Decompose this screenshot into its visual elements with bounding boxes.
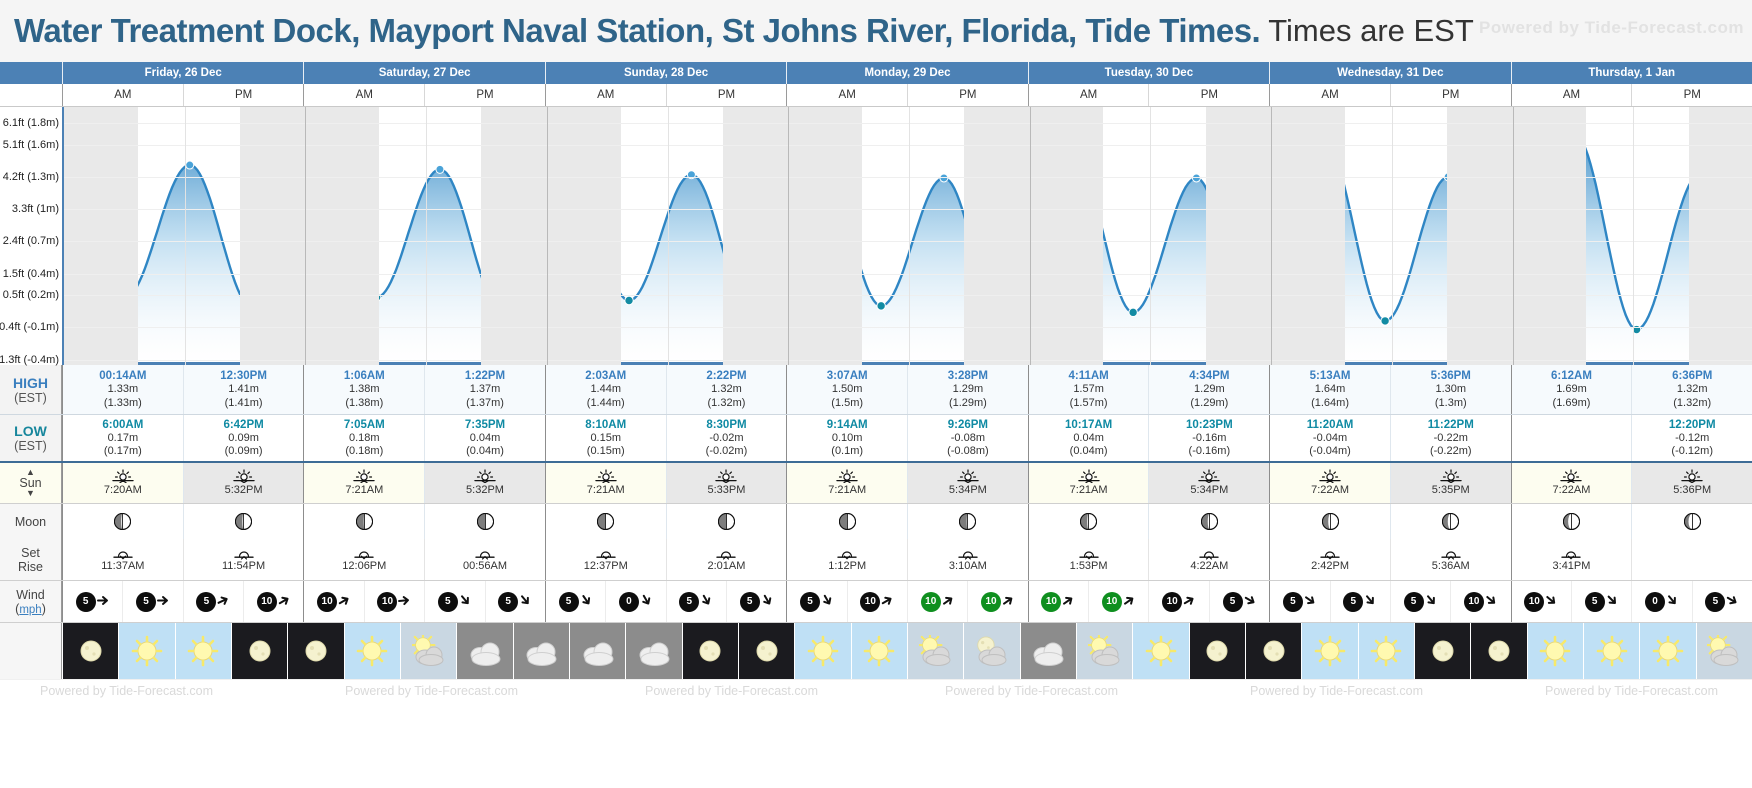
sun-cell-8: 7:21AM [1028,463,1149,503]
wind-direction-arrow-icon [1364,594,1377,609]
low-tide-cell-11: 11:22PM-0.22m(-0.22m) [1390,415,1511,461]
tide-marker-low-9 [625,296,633,304]
wind-cell-21: 5 [1330,581,1390,622]
moon-icon [232,623,287,679]
low-tide-time: 6:42PM [223,418,263,432]
moon-icon [63,623,118,679]
sun-time: 7:21AM [1070,484,1108,497]
ampm-pm-day0: PM [183,84,304,106]
weather-cell-15 [907,623,963,679]
sun-cell-4: 7:21AM [545,463,666,503]
wind-direction-arrow-icon [580,594,593,609]
moon-phase-icon [1563,513,1580,530]
wind-direction-arrow-icon [1304,594,1317,609]
moon-cloud-icon [964,623,1019,679]
low-tide-cell-3: 7:35PM0.04m(0.04m) [424,415,545,461]
moon-event-cell-3: 00:56AM [424,539,545,580]
wind-cell-8: 5 [545,581,605,622]
low-tide-height-alt: (0.09m) [225,445,263,458]
moonrise-icon [957,547,979,560]
wind-direction-arrow-icon [1002,594,1015,609]
wind-speed-badge: 5 [136,592,156,612]
moon-event-time: 11:37AM [101,560,144,572]
moon-phase-icon [235,513,252,530]
ampm-am-day4: AM [1028,84,1149,106]
moon-phase-cell-1 [183,504,304,539]
vline-120h [1271,107,1272,365]
cloud-icon [570,623,625,679]
high-tide-cell-0: 00:14AM1.33m(1.33m) [62,365,183,414]
vline-96h [1030,107,1031,365]
high-tide-cell-1: 12:30PM1.41m(1.41m) [183,365,304,414]
high-tide-height-alt: (1.57m) [1070,397,1108,410]
low-tide-cell-4: 8:10AM0.15m(0.15m) [545,415,666,461]
weather-cell-28 [1639,623,1695,679]
low-tide-height: 0.04m [1073,432,1104,445]
footer-watermark-4: Powered by Tide-Forecast.com [1250,684,1423,698]
high-tide-cell-6: 3:07AM1.50m(1.5m) [786,365,907,414]
low-tide-height-alt: (-0.02m) [706,445,748,458]
tide-marker-high-14 [940,174,948,182]
moon-event-cell-10: 2:42PM [1269,539,1390,580]
axis-corner [0,62,62,84]
low-tide-height: 0.18m [349,432,380,445]
low-tide-time: 7:35PM [465,418,505,432]
low-tide-time: 12:20PM [1669,418,1716,432]
high-tide-cell-7: 3:28PM1.29m(1.29m) [907,365,1028,414]
wind-direction-arrow-icon [1606,594,1619,609]
wind-direction-arrow-icon [1425,594,1438,609]
wind-cell-23: 10 [1450,581,1510,622]
weather-cell-4 [287,623,343,679]
low-tide-cell-1: 6:42PM0.09m(0.09m) [183,415,304,461]
night-band-0 [64,107,138,365]
moon-phase-icon [1442,513,1459,530]
sunset-icon [1681,469,1703,483]
moon-event-time: 4:22AM [1190,560,1228,572]
moon-icon [288,623,343,679]
high-tide-cell-5: 2:22PM1.32m(1.32m) [666,365,787,414]
moon-phase-icon [1684,513,1701,530]
low-tide-time: 11:22PM [1428,418,1474,432]
gridline-0 [64,123,1752,124]
wind-direction-arrow-icon [881,594,894,609]
weather-row [0,623,1752,679]
low-tide-height: 0.09m [228,432,259,445]
ampm-pm-day3: PM [907,84,1028,106]
low-tide-height: -0.04m [1313,432,1347,445]
moonset-icon [595,547,617,560]
moon-event-cell-9: 4:22AM [1148,539,1269,580]
vline-12h [185,107,186,365]
gridline-3 [64,209,1752,210]
weather-cell-5 [344,623,400,679]
high-tide-height-alt: (1.32m) [708,397,746,410]
weather-cell-10 [625,623,681,679]
wind-cell-11: 5 [726,581,786,622]
weather-cell-1 [118,623,174,679]
low-tide-height: -0.16m [1192,432,1226,445]
high-tide-height-alt: (1.32m) [1673,397,1711,410]
moon-event-cell-2: 12:06PM [303,539,424,580]
low-tide-height: -0.02m [709,432,743,445]
tide-chart: 6.1ft (1.8m)5.1ft (1.6m)4.2ft (1.3m)3.3f… [0,107,1752,365]
moon-phase-icon [839,513,856,530]
wind-speed-badge: 5 [679,592,699,612]
wind-speed-badge: 5 [1705,592,1725,612]
night-band-7 [1689,107,1752,365]
wind-speed-badge: 10 [1162,592,1182,612]
low-tide-row: LOW (EST) 6:00AM0.17m(0.17m)6:42PM0.09m(… [0,415,1752,463]
wind-direction-arrow-icon [338,594,351,609]
sun-icon [1302,623,1357,679]
moon-event-time: 1:12PM [828,560,866,572]
wind-speed-badge: 0 [1645,592,1665,612]
low-tide-height-alt: (0.15m) [587,445,625,458]
wind-cell-18: 10 [1148,581,1208,622]
sunset-icon [474,469,496,483]
wind-speed-badge: 10 [1464,592,1484,612]
moon-icon [1246,623,1301,679]
sun-cell-11: 5:35PM [1390,463,1511,503]
high-tide-cell-12: 6:12AM1.69m(1.69m) [1511,365,1632,414]
gridline-7 [64,327,1752,328]
wind-cell-26: 0 [1631,581,1691,622]
weather-cell-29 [1696,623,1752,679]
high-tide-time: 1:06AM [344,369,385,383]
moon-phase-cell-2 [303,504,424,539]
sunrise-icon [1319,469,1341,483]
sun-time: 7:22AM [1311,484,1349,497]
sunrise-icon [1560,469,1582,483]
weather-cell-3 [231,623,287,679]
wind-speed-badge: 5 [1585,592,1605,612]
high-tide-cell-3: 1:22PM1.37m(1.37m) [424,365,545,414]
weather-cell-23 [1358,623,1414,679]
moon-phase-row: Moon [0,504,1752,539]
weather-cell-7 [456,623,512,679]
wind-direction-arrow-icon [217,594,230,609]
moon-event-time: 2:01AM [707,560,745,572]
wind-direction-arrow-icon [1183,594,1196,609]
moon-event-cell-7: 3:10AM [907,539,1028,580]
wind-speed-badge: 10 [257,592,277,612]
high-tide-height: 1.44m [590,383,621,396]
page-title: Water Treatment Dock, Mayport Naval Stat… [14,12,1260,50]
day-header-3: Monday, 29 Dec [786,62,1027,84]
high-tide-time: 3:07AM [827,369,868,383]
high-tide-time: 4:11AM [1068,369,1108,383]
high-tide-height-alt: (1.41m) [225,397,263,410]
moon-setrise-label: Set Rise [0,539,62,580]
wind-cell-1: 5 [122,581,182,622]
wind-direction-arrow-icon [459,594,472,609]
moonset-icon [836,547,858,560]
sun-cell-7: 5:34PM [907,463,1028,503]
high-tide-height: 1.30m [1435,383,1466,396]
moon-event-time: 12:37PM [584,560,628,572]
tide-marker-low-17 [1129,308,1137,316]
moon-phase-cell-6 [786,504,907,539]
weather-cell-11 [682,623,738,679]
axis-corner-ampm [0,84,62,106]
ampm-pm-day1: PM [424,84,545,106]
high-tide-height: 1.29m [1194,383,1225,396]
high-tide-height-alt: (1.38m) [345,397,383,410]
tide-plot-area [62,107,1752,365]
low-tide-height: -0.12m [1675,432,1709,445]
ampm-pm-day4: PM [1148,84,1269,106]
moon-event-time: 5:36AM [1432,560,1470,572]
moon-phase-cell-5 [666,504,787,539]
high-tide-height: 1.50m [832,383,863,396]
sun-time: 5:35PM [1432,484,1470,497]
weather-cell-16 [963,623,1019,679]
low-tide-time: 8:10AM [585,418,626,432]
ampm-am-day5: AM [1269,84,1390,106]
low-tide-height: -0.22m [1434,432,1468,445]
sun-cell-5: 5:33PM [666,463,787,503]
wind-direction-arrow-icon [519,594,532,609]
wind-speed-badge: 10 [1524,592,1544,612]
cloud-icon [1021,623,1076,679]
wind-cell-14: 10 [907,581,967,622]
sun-time: 7:21AM [828,484,866,497]
moonrise-icon [1198,547,1220,560]
high-tide-time: 4:34PM [1189,369,1229,383]
moon-event-cell-11: 5:36AM [1390,539,1511,580]
wind-direction-arrow-icon [1666,594,1679,609]
high-tide-time: 2:22PM [706,369,746,383]
low-tide-height: 0.17m [108,432,139,445]
weather-cell-8 [513,623,569,679]
y-tick-8: -1.3ft (-0.4m) [0,354,59,366]
vline-72h [788,107,789,365]
wind-direction-arrow-icon [1062,594,1075,609]
high-tide-height: 1.69m [1556,383,1587,396]
low-tide-height-alt: (-0.16m) [1189,445,1231,458]
weather-cell-6 [400,623,456,679]
tide-marker-low-13 [877,302,885,310]
moon-icon [1471,623,1526,679]
day-header-5: Wednesday, 31 Dec [1269,62,1510,84]
wind-direction-arrow-icon [761,594,774,609]
y-tick-0: 6.1ft (1.8m) [3,117,59,129]
sun-icon [852,623,907,679]
sunset-icon [233,469,255,483]
moon-phase-icon [477,513,494,530]
low-tide-height-alt: (-0.22m) [1430,445,1472,458]
high-tide-time: 12:30PM [220,369,267,383]
cloud-icon [626,623,681,679]
wind-direction-arrow-icon [942,594,955,609]
high-tide-cell-10: 5:13AM1.64m(1.64m) [1269,365,1390,414]
wind-cell-15: 10 [967,581,1027,622]
wind-cell-24: 10 [1511,581,1571,622]
moon-event-time: 3:41PM [1553,560,1591,572]
high-tide-cell-4: 2:03AM1.44m(1.44m) [545,365,666,414]
sun-cell-13: 5:36PM [1631,463,1752,503]
wind-cell-7: 5 [485,581,545,622]
wind-row: Wind (mph) 55510101055505551010101010105… [0,581,1752,623]
sun-time: 5:33PM [707,484,745,497]
sun-time: 5:32PM [225,484,263,497]
sun-cell-2: 7:21AM [303,463,424,503]
day-header-0: Friday, 26 Dec [62,62,303,84]
moon-phase-icon [959,513,976,530]
weather-cell-12 [738,623,794,679]
moon-icon [683,623,738,679]
high-tide-height-alt: (1.29m) [1190,397,1228,410]
low-tide-label-text: LOW [14,423,47,439]
moon-label-text: Moon [15,515,46,529]
sun-time: 7:21AM [587,484,625,497]
day-header-1: Saturday, 27 Dec [303,62,544,84]
moon-phase-cell-0 [62,504,183,539]
sunrise-icon [595,469,617,483]
high-tide-height-alt: (1.33m) [104,397,142,410]
sun-icon [1133,623,1188,679]
low-tide-cell-9: 10:23PM-0.16m(-0.16m) [1148,415,1269,461]
moon-event-cell-13 [1631,539,1752,580]
moonset-icon [112,547,134,560]
moon-event-time: 1:53PM [1070,560,1108,572]
low-tide-height-alt: (0.18m) [345,445,383,458]
tide-marker-high-18 [1192,174,1200,182]
sunrise-icon [353,469,375,483]
high-tide-time: 3:28PM [948,369,988,383]
weather-cell-24 [1414,623,1470,679]
low-tide-height: 0.15m [590,432,621,445]
moonset-icon [1078,547,1100,560]
day-header-row: Friday, 26 DecSaturday, 27 DecSunday, 28… [0,62,1752,84]
high-tide-height-alt: (1.64m) [1311,397,1349,410]
footer-watermark-2: Powered by Tide-Forecast.com [645,684,818,698]
moon-event-time: 12:06PM [342,560,386,572]
cloud-icon [457,623,512,679]
y-tick-4: 2.4ft (0.7m) [3,235,59,247]
wind-direction-arrow-icon [1485,594,1498,609]
weather-cell-13 [794,623,850,679]
moon-icon [1190,623,1245,679]
high-tide-height: 1.41m [228,383,259,396]
wind-speed-badge: 10 [921,592,941,612]
moon-event-cell-4: 12:37PM [545,539,666,580]
moon-rise-label-text: Rise [18,560,43,574]
gridline-8 [64,360,1752,361]
low-tide-time: 7:05AM [344,418,385,432]
footer-watermark-5: Powered by Tide-Forecast.com [1545,684,1718,698]
ampm-am-day2: AM [545,84,666,106]
sun-cell-1: 5:32PM [183,463,304,503]
sun-icon [1528,623,1583,679]
high-tide-time: 2:03AM [585,369,626,383]
sun-icon [1640,623,1695,679]
wind-unit-link[interactable]: mph [19,604,41,616]
ampm-pm-day5: PM [1390,84,1511,106]
wind-speed-badge: 5 [740,592,760,612]
wind-cell-13: 10 [847,581,907,622]
moonrise-icon [1440,547,1462,560]
vline-108h [1150,107,1151,365]
high-tide-height: 1.32m [711,383,742,396]
day-header-2: Sunday, 28 Dec [545,62,786,84]
moon-event-time: 3:10AM [949,560,987,572]
ampm-pm-day2: PM [666,84,787,106]
high-tide-height: 1.57m [1073,383,1104,396]
sun-time: 5:36PM [1673,484,1711,497]
moon-phase-cell-4 [545,504,666,539]
wind-speed-badge: 10 [1102,592,1122,612]
wind-direction-arrow-icon [398,594,411,609]
low-tide-height-alt: (0.17m) [104,445,142,458]
wind-speed-badge: 5 [438,592,458,612]
moon-phase-icon [1201,513,1218,530]
moon-phase-cell-12 [1511,504,1632,539]
sunset-icon [1198,469,1220,483]
high-tide-cell-9: 4:34PM1.29m(1.29m) [1148,365,1269,414]
low-tide-cell-13: 12:20PM-0.12m(-0.12m) [1631,415,1752,461]
moon-phase-icon [718,513,735,530]
wind-direction-arrow-icon [1545,594,1558,609]
weather-cell-21 [1245,623,1301,679]
vline-156h [1633,107,1634,365]
low-tide-height-alt: (0.04m) [466,445,504,458]
gridline-6 [64,295,1752,296]
moon-setrise-row: Set Rise 11:37AM11:54PM12:06PM00:56AM12:… [0,539,1752,581]
high-tide-height: 1.37m [470,383,501,396]
wind-speed-badge: 0 [619,592,639,612]
moon-icon [739,623,794,679]
wind-speed-badge: 10 [860,592,880,612]
ampm-am-day6: AM [1511,84,1632,106]
sunset-icon [1440,469,1462,483]
sun-cell-12: 7:22AM [1511,463,1632,503]
high-tide-label: HIGH (EST) [0,365,62,414]
weather-cell-19 [1132,623,1188,679]
wind-cell-27: 5 [1692,581,1752,622]
wind-cell-6: 5 [424,581,484,622]
wind-cell-4: 10 [303,581,363,622]
night-band-2 [481,107,620,365]
sun-cloud-icon [401,623,456,679]
gridline-5 [64,274,1752,275]
sun-time: 5:32PM [466,484,504,497]
wind-cell-20: 5 [1269,581,1329,622]
low-tide-time: 10:23PM [1186,418,1233,432]
moonset-icon [1560,547,1582,560]
y-tick-3: 3.3ft (1m) [12,203,59,215]
y-tick-2: 4.2ft (1.3m) [3,171,59,183]
sunset-icon [957,469,979,483]
high-tide-cell-2: 1:06AM1.38m(1.38m) [303,365,424,414]
wind-direction-arrow-icon [1123,594,1136,609]
page-title-timezone: Times are EST [1268,13,1474,49]
wind-speed-badge: 10 [317,592,337,612]
wind-direction-arrow-icon [97,594,110,609]
high-tide-height-alt: (1.3m) [1435,397,1467,410]
high-tide-cell-13: 6:36PM1.32m(1.32m) [1631,365,1752,414]
low-tide-height-alt: (0.1m) [831,445,863,458]
wind-cell-19: 5 [1209,581,1269,622]
moon-phase-cell-9 [1148,504,1269,539]
moon-event-time: 11:54PM [222,560,265,572]
moon-phase-icon [1080,513,1097,530]
moonrise-icon [715,547,737,560]
sun-time: 5:34PM [949,484,987,497]
wind-cell-5: 10 [364,581,424,622]
watermark-title: Powered by Tide-Forecast.com [1479,18,1744,38]
